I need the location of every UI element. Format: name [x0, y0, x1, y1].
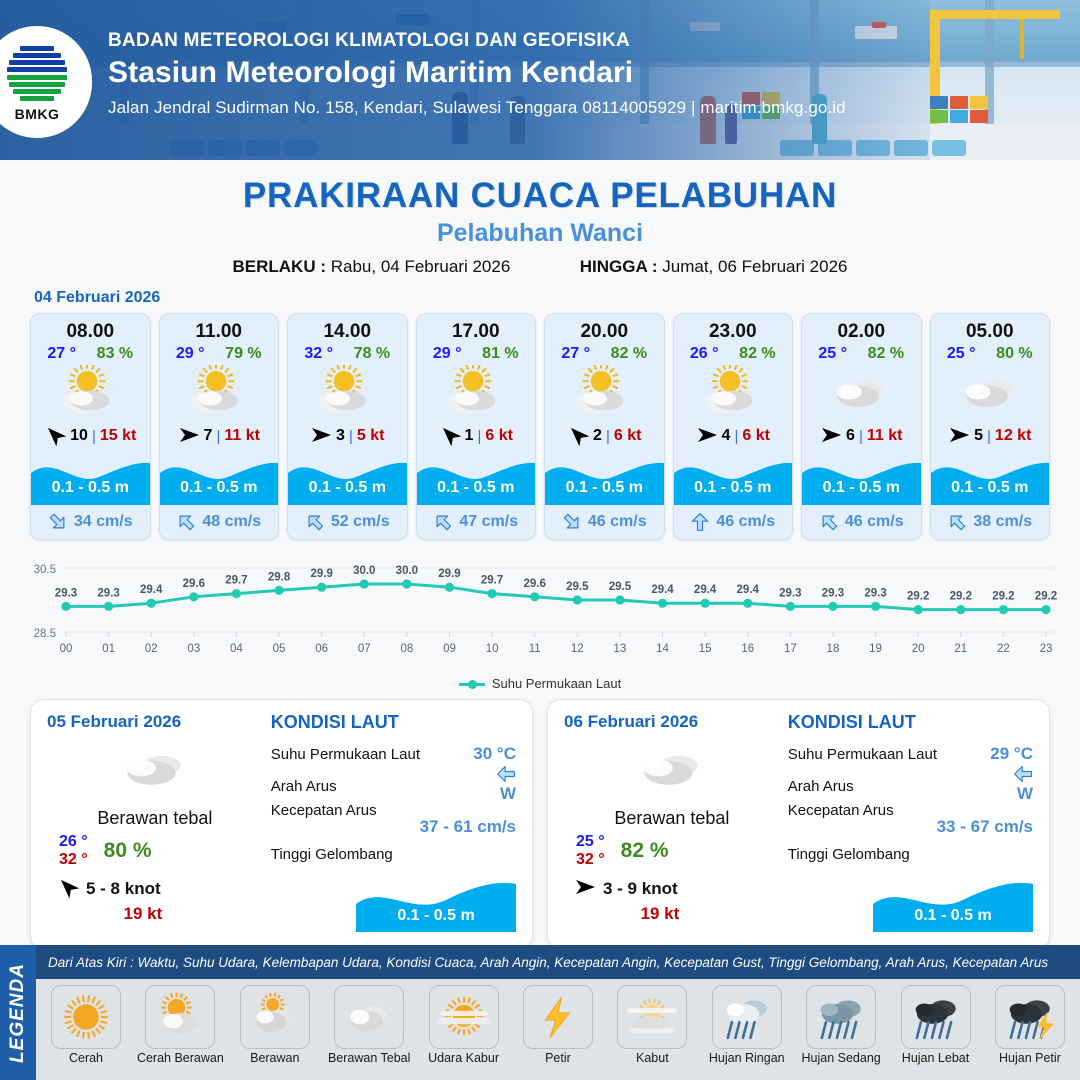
- daily-panel-left: 06 Februari 2026 Berawan tebal 25 ° 32 °…: [564, 712, 780, 936]
- svg-text:12: 12: [571, 643, 584, 655]
- sst-chart: 30.528.500010203040506070809101112131415…: [0, 554, 1080, 674]
- card-wind-speed: 6 kt: [485, 427, 513, 445]
- wind-direction-arrow-icon: [820, 426, 842, 447]
- svg-text:29.7: 29.7: [481, 575, 503, 587]
- card-wind-speed: 11 kt: [867, 427, 903, 445]
- legenda-item: Berawan: [231, 985, 319, 1065]
- legenda-item-label: Berawan: [231, 1051, 319, 1065]
- card-wind: 6 | 11 kt: [802, 421, 921, 451]
- svg-text:13: 13: [614, 643, 627, 655]
- card-current-speed: 46 cm/s: [588, 513, 647, 531]
- card-humidity: 81 %: [482, 345, 518, 363]
- cerah-berawan-icon: [160, 363, 279, 421]
- daily-wave-height: 0.1 - 0.5 m: [356, 907, 516, 925]
- legenda-item-label: Hujan Ringan: [703, 1051, 791, 1065]
- daily-date: 05 Februari 2026: [47, 712, 263, 732]
- wind-direction-arrow-icon: [310, 426, 332, 447]
- card-wind-degree: 4: [722, 427, 731, 445]
- card-current: 46 cm/s: [545, 505, 664, 539]
- sea-row: Kecepatan Arus 37 - 61 cm/s: [271, 802, 516, 846]
- hourly-card: 11.00 29 ° 79 % 7 | 11 kt 0.1 - 0.5 m: [159, 313, 280, 540]
- legenda-note: Dari Atas Kiri : Waktu, Suhu Udara, Kele…: [48, 955, 1048, 970]
- card-wind: 1 | 6 kt: [417, 421, 536, 451]
- card-humidity: 82 %: [739, 345, 775, 363]
- card-wind: 2 | 6 kt: [545, 421, 664, 451]
- svg-text:29.3: 29.3: [779, 587, 801, 599]
- sea-row-value: 29 °C: [990, 744, 1033, 764]
- daily-wave-graphic: 0.1 - 0.5 m: [873, 878, 1033, 932]
- page-subtitle: Pelabuhan Wanci: [0, 219, 1080, 248]
- svg-text:04: 04: [230, 643, 243, 655]
- svg-text:01: 01: [102, 643, 115, 655]
- daily-wind: 5 - 8 knot: [47, 878, 263, 901]
- daily-wind-range: 5 - 8 knot: [86, 879, 161, 899]
- card-humidity: 82 %: [868, 345, 904, 363]
- card-wind-degree: 1: [465, 427, 474, 445]
- svg-text:29.2: 29.2: [1035, 591, 1057, 603]
- card-wind-separator: |: [606, 428, 610, 445]
- card-current: 46 cm/s: [674, 505, 793, 539]
- header-text-block: BADAN METEOROLOGI KLIMATOLOGI DAN GEOFIS…: [108, 30, 846, 118]
- svg-text:14: 14: [656, 643, 669, 655]
- card-temp-hum: 26 ° 82 %: [674, 343, 793, 363]
- sea-row-key: Suhu Permukaan Laut: [271, 746, 420, 763]
- card-temp-hum: 27 ° 82 %: [545, 343, 664, 363]
- header-container: [930, 96, 948, 109]
- sea-row: Tinggi Gelombang: [788, 846, 1033, 880]
- card-temp-hum: 25 ° 80 %: [931, 343, 1050, 363]
- card-wind-degree: 5: [974, 427, 983, 445]
- sst-legend-swatch: [459, 683, 485, 686]
- card-current-speed: 48 cm/s: [202, 513, 261, 531]
- sea-row: Kecepatan Arus 33 - 67 cm/s: [788, 802, 1033, 846]
- card-wind-degree: 6: [846, 427, 855, 445]
- svg-text:29.2: 29.2: [992, 591, 1014, 603]
- card-temp-hum: 27 ° 83 %: [31, 343, 150, 363]
- card-time: 08.00: [31, 314, 150, 343]
- card-wave: 0.1 - 0.5 m: [160, 451, 279, 505]
- card-current: 48 cm/s: [160, 505, 279, 539]
- daily-panel-right: KONDISI LAUT Suhu Permukaan Laut 29 °C A…: [780, 712, 1033, 936]
- legenda-item: Petir: [514, 985, 602, 1065]
- card-wind: 10 | 15 kt: [31, 421, 150, 451]
- header-crane-cable: [1020, 19, 1024, 59]
- card-humidity: 79 %: [225, 345, 261, 363]
- card-humidity: 80 %: [996, 345, 1032, 363]
- legenda-item-label: Petir: [514, 1051, 602, 1065]
- wind-direction-arrow-icon: [574, 878, 596, 901]
- card-temperature: 27 °: [47, 345, 76, 363]
- card-temperature: 32 °: [304, 345, 333, 363]
- current-direction-arrow-icon: [496, 764, 516, 784]
- card-wind-speed: 6 kt: [614, 427, 642, 445]
- header-container: [930, 110, 948, 123]
- daily-humidity: 80 %: [104, 839, 152, 863]
- berawan-tebal-icon: [47, 736, 263, 800]
- daily-temp-max: 32 °: [576, 851, 605, 869]
- card-current-speed: 46 cm/s: [845, 513, 904, 531]
- card-current: 52 cm/s: [288, 505, 407, 539]
- card-temperature: 25 °: [947, 345, 976, 363]
- wind-direction-arrow-icon: [567, 426, 589, 447]
- card-wave-height: 0.1 - 0.5 m: [417, 479, 536, 497]
- card-current: 47 cm/s: [417, 505, 536, 539]
- card-time: 20.00: [545, 314, 664, 343]
- svg-text:29.5: 29.5: [609, 581, 632, 593]
- card-wave: 0.1 - 0.5 m: [31, 451, 150, 505]
- sea-row: Suhu Permukaan Laut 29 °C: [788, 738, 1033, 770]
- card-temp-hum: 25 ° 82 %: [802, 343, 921, 363]
- legenda-item-label: Cerah: [42, 1051, 130, 1065]
- legenda-item: Hujan Sedang: [797, 985, 885, 1065]
- sea-row-key: Suhu Permukaan Laut: [788, 746, 937, 763]
- header-seat: [932, 140, 966, 156]
- sst-chart-svg: 30.528.500010203040506070809101112131415…: [0, 554, 1080, 674]
- card-time: 14.00: [288, 314, 407, 343]
- svg-text:29.4: 29.4: [737, 584, 760, 596]
- card-wave: 0.1 - 0.5 m: [417, 451, 536, 505]
- cerah-berawan-icon: [545, 363, 664, 421]
- legenda-item: Cerah Berawan: [136, 985, 224, 1065]
- svg-text:19: 19: [869, 643, 882, 655]
- lightning-icon: [523, 985, 593, 1049]
- wind-direction-arrow-icon: [57, 878, 79, 901]
- card-wave-height: 0.1 - 0.5 m: [802, 479, 921, 497]
- sea-row: Arah Arus W: [788, 770, 1033, 802]
- card-time: 17.00: [417, 314, 536, 343]
- legenda-item-label: Cerah Berawan: [136, 1051, 224, 1065]
- sea-row: Arah Arus W: [271, 770, 516, 802]
- svg-text:29.2: 29.2: [907, 591, 929, 603]
- card-current-speed: 46 cm/s: [716, 513, 775, 531]
- card-wave: 0.1 - 0.5 m: [545, 451, 664, 505]
- current-direction-arrow-icon: [690, 512, 710, 532]
- legenda-side-tab: LEGENDA: [0, 945, 36, 1080]
- svg-text:28.5: 28.5: [34, 628, 56, 640]
- hourly-forecast-row: 08.00 27 ° 83 % 10 | 15 kt 0.1 - 0.5 m: [0, 313, 1080, 540]
- card-wind-separator: |: [859, 428, 863, 445]
- daily-panel-right: KONDISI LAUT Suhu Permukaan Laut 30 °C A…: [263, 712, 516, 936]
- card-time: 11.00: [160, 314, 279, 343]
- daily-panel: 06 Februari 2026 Berawan tebal 25 ° 32 °…: [547, 699, 1050, 949]
- daily-temps: 25 ° 32 ° 82 %: [564, 833, 780, 870]
- current-direction-arrow-icon: [819, 512, 839, 532]
- svg-text:02: 02: [145, 643, 158, 655]
- card-wave: 0.1 - 0.5 m: [674, 451, 793, 505]
- card-temp-hum: 29 ° 81 %: [417, 343, 536, 363]
- svg-text:17: 17: [784, 643, 797, 655]
- header-crane-boom: [930, 10, 1060, 19]
- daily-temps: 26 ° 32 ° 80 %: [47, 833, 263, 870]
- page-header: BMKG BADAN METEOROLOGI KLIMATOLOGI DAN G…: [0, 0, 1080, 160]
- page-title: PRAKIRAAN CUACA PELABUHAN: [0, 176, 1080, 216]
- daily-condition: Berawan tebal: [47, 808, 263, 829]
- daily-temp-max: 32 °: [59, 851, 88, 869]
- card-wind-separator: |: [734, 428, 738, 445]
- moderate-rain-icon: [806, 985, 876, 1049]
- daily-humidity: 82 %: [621, 839, 669, 863]
- cerah-berawan-icon: [31, 363, 150, 421]
- svg-text:29.4: 29.4: [140, 584, 163, 596]
- card-wind-speed: 12 kt: [995, 427, 1031, 445]
- bmkg-logo-mark: [6, 42, 68, 104]
- card-temp-hum: 32 ° 78 %: [288, 343, 407, 363]
- heavy-rain-icon: [901, 985, 971, 1049]
- card-humidity: 82 %: [611, 345, 647, 363]
- card-current-speed: 38 cm/s: [973, 513, 1032, 531]
- svg-text:29.3: 29.3: [822, 587, 844, 599]
- card-temperature: 27 °: [561, 345, 590, 363]
- sea-row-key: Arah Arus: [788, 778, 854, 795]
- hingga-value: Jumat, 06 Februari 2026: [662, 257, 847, 276]
- daily-gust: 19 kt: [47, 904, 263, 924]
- station-contact: Jalan Jendral Sudirman No. 158, Kendari,…: [108, 98, 846, 118]
- card-wave-height: 0.1 - 0.5 m: [931, 479, 1050, 497]
- card-wave-height: 0.1 - 0.5 m: [674, 479, 793, 497]
- card-current-speed: 34 cm/s: [74, 513, 133, 531]
- sea-row-key: Arah Arus: [271, 778, 337, 795]
- card-time: 02.00: [802, 314, 921, 343]
- card-temperature: 25 °: [818, 345, 847, 363]
- svg-text:21: 21: [954, 643, 967, 655]
- hourly-card: 20.00 27 ° 82 % 2 | 6 kt 0.1 - 0.5 m: [544, 313, 665, 540]
- svg-text:29.8: 29.8: [268, 571, 291, 583]
- cerah-berawan-icon: [674, 363, 793, 421]
- sea-row-value: 33 - 67 cm/s: [788, 817, 1033, 837]
- cerah-berawan-icon: [288, 363, 407, 421]
- legenda-side-label: LEGENDA: [7, 963, 29, 1063]
- card-temperature: 29 °: [433, 345, 462, 363]
- sea-row-key: Tinggi Gelombang: [271, 846, 516, 863]
- fog-icon: [617, 985, 687, 1049]
- card-temp-hum: 29 ° 79 %: [160, 343, 279, 363]
- daily-date: 06 Februari 2026: [564, 712, 780, 732]
- svg-text:09: 09: [443, 643, 456, 655]
- card-wind-speed: 5 kt: [357, 427, 385, 445]
- wind-direction-arrow-icon: [948, 426, 970, 447]
- svg-text:10: 10: [486, 643, 499, 655]
- svg-text:18: 18: [827, 643, 840, 655]
- card-wave-height: 0.1 - 0.5 m: [288, 479, 407, 497]
- legenda-item: Hujan Petir: [986, 985, 1074, 1065]
- svg-text:03: 03: [187, 643, 200, 655]
- current-direction-arrow-icon: [562, 512, 582, 532]
- card-wave: 0.1 - 0.5 m: [288, 451, 407, 505]
- current-direction-arrow-icon: [1013, 764, 1033, 784]
- current-direction-arrow-icon: [947, 512, 967, 532]
- card-time: 23.00: [674, 314, 793, 343]
- wind-direction-arrow-icon: [178, 426, 200, 447]
- wind-direction-arrow-icon: [439, 426, 461, 447]
- legenda-item: Cerah: [42, 985, 130, 1065]
- hourly-card: 23.00 26 ° 82 % 4 | 6 kt 0.1 - 0.5 m: [673, 313, 794, 540]
- hourly-day-label: 04 Februari 2026: [34, 289, 1080, 307]
- hourly-card: 14.00 32 ° 78 % 3 | 5 kt 0.1 - 0.5 m: [287, 313, 408, 540]
- daily-temp-min: 25 °: [576, 833, 605, 851]
- card-wave-height: 0.1 - 0.5 m: [545, 479, 664, 497]
- validity-row: BERLAKU : Rabu, 04 Februari 2026 HINGGA …: [0, 257, 1080, 277]
- sst-chart-legend: Suhu Permukaan Laut: [0, 676, 1080, 691]
- sea-row: Suhu Permukaan Laut 30 °C: [271, 738, 516, 770]
- card-humidity: 78 %: [354, 345, 390, 363]
- sea-row: Tinggi Gelombang: [271, 846, 516, 880]
- wind-direction-arrow-icon: [696, 426, 718, 447]
- station-name: Stasiun Meteorologi Maritim Kendari: [108, 56, 846, 90]
- daily-panel: 05 Februari 2026 Berawan tebal 26 ° 32 °…: [30, 699, 533, 949]
- card-wave-height: 0.1 - 0.5 m: [160, 479, 279, 497]
- card-time: 05.00: [931, 314, 1050, 343]
- agency-name: BADAN METEOROLOGI KLIMATOLOGI DAN GEOFIS…: [108, 30, 846, 52]
- svg-text:20: 20: [912, 643, 925, 655]
- berawan-tebal-icon: [802, 363, 921, 421]
- sea-row-value: 30 °C: [473, 744, 516, 764]
- legenda-item-label: Hujan Sedang: [797, 1051, 885, 1065]
- sea-row-value: W: [1013, 764, 1033, 808]
- sea-conditions-title: KONDISI LAUT: [271, 712, 516, 733]
- svg-text:30.0: 30.0: [396, 565, 418, 577]
- cloud-thick-icon: [334, 985, 404, 1049]
- thunderstorm-icon: [995, 985, 1065, 1049]
- svg-text:15: 15: [699, 643, 712, 655]
- legenda-item: Kabut: [608, 985, 696, 1065]
- page-title-block: PRAKIRAAN CUACA PELABUHAN Pelabuhan Wanc…: [0, 160, 1080, 277]
- hingga-label: HINGGA :: [580, 257, 658, 276]
- legenda-section: LEGENDA Dari Atas Kiri : Waktu, Suhu Uda…: [0, 945, 1080, 1080]
- card-wind-separator: |: [92, 428, 96, 445]
- card-wind-speed: 15 kt: [100, 427, 136, 445]
- current-direction-arrow-icon: [433, 512, 453, 532]
- card-wave: 0.1 - 0.5 m: [931, 451, 1050, 505]
- svg-text:29.3: 29.3: [864, 587, 886, 599]
- current-direction-arrow-icon: [305, 512, 325, 532]
- card-wind-speed: 6 kt: [742, 427, 770, 445]
- card-current-speed: 47 cm/s: [459, 513, 518, 531]
- berlaku-label: BERLAKU :: [233, 257, 327, 276]
- sea-row-value: W: [496, 764, 516, 808]
- legenda-item: Berawan Tebal: [325, 985, 413, 1065]
- daily-wind: 3 - 9 knot: [564, 878, 780, 901]
- svg-text:16: 16: [741, 643, 754, 655]
- current-direction-label: W: [500, 784, 516, 803]
- svg-text:29.9: 29.9: [438, 568, 460, 580]
- card-current: 34 cm/s: [31, 505, 150, 539]
- svg-text:30.5: 30.5: [34, 564, 56, 576]
- legenda-item: Udara Kabur: [420, 985, 508, 1065]
- header-container: [970, 110, 988, 123]
- wind-direction-arrow-icon: [44, 426, 66, 447]
- haze-icon: [429, 985, 499, 1049]
- daily-temp-min: 26 °: [59, 833, 88, 851]
- legenda-item-label: Hujan Lebat: [892, 1051, 980, 1065]
- card-wind-degree: 2: [593, 427, 602, 445]
- daily-gust: 19 kt: [564, 904, 780, 924]
- svg-text:08: 08: [400, 643, 413, 655]
- sea-row-value: 37 - 61 cm/s: [271, 817, 516, 837]
- svg-text:29.3: 29.3: [55, 587, 77, 599]
- card-wave: 0.1 - 0.5 m: [802, 451, 921, 505]
- daily-condition: Berawan tebal: [564, 808, 780, 829]
- hourly-card: 17.00 29 ° 81 % 1 | 6 kt 0.1 - 0.5 m: [416, 313, 537, 540]
- cerah-berawan-icon: [417, 363, 536, 421]
- hourly-card: 02.00 25 ° 82 % 6 | 11 kt 0.1 - 0.5 m: [801, 313, 922, 540]
- card-current-speed: 52 cm/s: [331, 513, 390, 531]
- daily-wave-graphic: 0.1 - 0.5 m: [356, 878, 516, 932]
- card-wind-degree: 3: [336, 427, 345, 445]
- card-wave-height: 0.1 - 0.5 m: [31, 479, 150, 497]
- card-temperature: 26 °: [690, 345, 719, 363]
- hourly-card: 05.00 25 ° 80 % 5 | 12 kt 0.1 - 0.5 m: [930, 313, 1051, 540]
- current-direction-label: W: [1017, 784, 1033, 803]
- berawan-tebal-icon: [931, 363, 1050, 421]
- card-wind-separator: |: [987, 428, 991, 445]
- svg-text:05: 05: [273, 643, 286, 655]
- legenda-item: Hujan Ringan: [703, 985, 791, 1065]
- svg-text:29.3: 29.3: [97, 587, 119, 599]
- card-wind-separator: |: [216, 428, 220, 445]
- legenda-body: Dari Atas Kiri : Waktu, Suhu Udara, Kele…: [36, 945, 1080, 1080]
- header-container: [950, 96, 968, 109]
- sst-legend-label: Suhu Permukaan Laut: [492, 676, 621, 691]
- svg-text:06: 06: [315, 643, 328, 655]
- card-wind: 5 | 12 kt: [931, 421, 1050, 451]
- legenda-note-bar: Dari Atas Kiri : Waktu, Suhu Udara, Kele…: [36, 945, 1080, 979]
- svg-text:29.4: 29.4: [694, 584, 717, 596]
- card-current: 46 cm/s: [802, 505, 921, 539]
- light-rain-icon: [712, 985, 782, 1049]
- card-wind: 7 | 11 kt: [160, 421, 279, 451]
- daily-forecast-panels: 05 Februari 2026 Berawan tebal 26 ° 32 °…: [0, 691, 1080, 949]
- daily-wind-range: 3 - 9 knot: [603, 879, 678, 899]
- berlaku-value: Rabu, 04 Februari 2026: [331, 257, 511, 276]
- sun-cloud-icon: [145, 985, 215, 1049]
- svg-text:23: 23: [1040, 643, 1053, 655]
- sea-row-key: Tinggi Gelombang: [788, 846, 1033, 863]
- header-container: [950, 110, 968, 123]
- svg-text:07: 07: [358, 643, 371, 655]
- cloud-sun-small-icon: [240, 985, 310, 1049]
- hourly-card: 08.00 27 ° 83 % 10 | 15 kt 0.1 - 0.5 m: [30, 313, 151, 540]
- legenda-items: Cerah Cerah Berawan Berawan Berawan Teba…: [36, 979, 1080, 1065]
- svg-text:29.5: 29.5: [566, 581, 589, 593]
- card-temperature: 29 °: [176, 345, 205, 363]
- sun-icon: [51, 985, 121, 1049]
- card-wind-separator: |: [477, 428, 481, 445]
- legenda-item-label: Hujan Petir: [986, 1051, 1074, 1065]
- svg-text:30.0: 30.0: [353, 565, 375, 577]
- current-direction-arrow-icon: [176, 512, 196, 532]
- card-current: 38 cm/s: [931, 505, 1050, 539]
- svg-text:29.9: 29.9: [310, 568, 332, 580]
- svg-text:29.6: 29.6: [524, 578, 546, 590]
- svg-text:22: 22: [997, 643, 1010, 655]
- header-container: [970, 96, 988, 109]
- legenda-item-label: Udara Kabur: [420, 1051, 508, 1065]
- card-wind-degree: 10: [70, 427, 88, 445]
- current-direction-arrow-icon: [48, 512, 68, 532]
- card-wind: 3 | 5 kt: [288, 421, 407, 451]
- svg-text:00: 00: [60, 643, 73, 655]
- svg-text:29.4: 29.4: [651, 584, 674, 596]
- legenda-item-label: Kabut: [608, 1051, 696, 1065]
- svg-text:29.7: 29.7: [225, 575, 247, 587]
- bmkg-logo-text: BMKG: [15, 106, 60, 122]
- svg-text:29.6: 29.6: [183, 578, 205, 590]
- svg-text:11: 11: [529, 643, 541, 655]
- sea-conditions-title: KONDISI LAUT: [788, 712, 1033, 733]
- card-wind-degree: 7: [204, 427, 213, 445]
- legenda-item-label: Berawan Tebal: [325, 1051, 413, 1065]
- svg-text:29.2: 29.2: [950, 591, 972, 603]
